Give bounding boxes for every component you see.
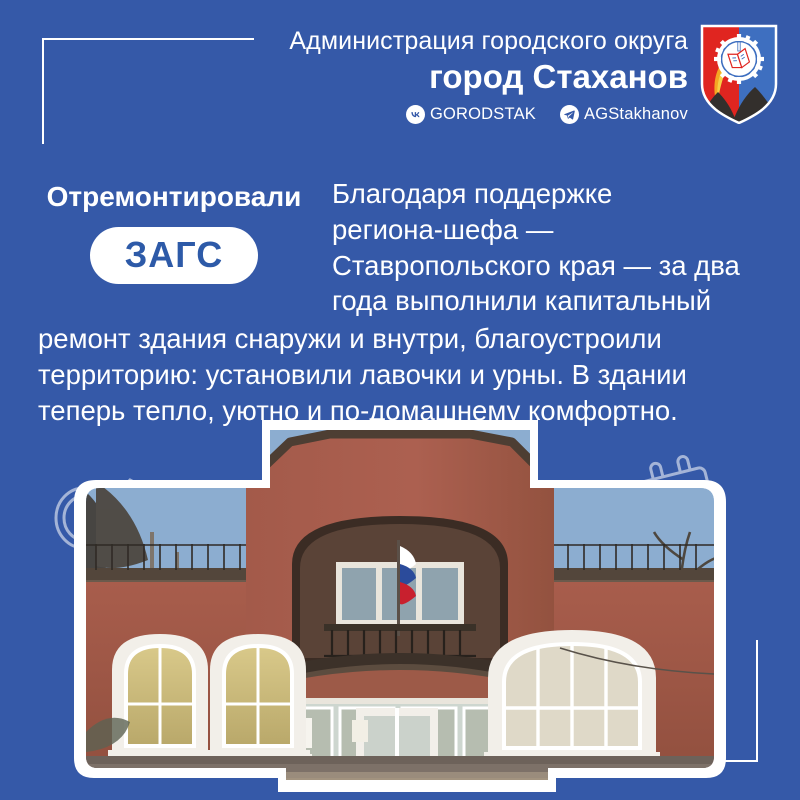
telegram-icon [560, 105, 579, 124]
article-copy: Отремонтировали ЗАГС Благодаря поддержке… [38, 176, 768, 428]
header-text-block: Администрация городского округа город Ст… [289, 22, 688, 124]
telegram-handle: AGStakhanov [584, 105, 688, 124]
social-link-vk[interactable]: GORODSTAK [406, 105, 536, 124]
paragraph-line: ремонт здания снаружи и внутри, благоуст… [38, 321, 768, 357]
city-title: город Стаханов [429, 58, 688, 97]
poster-canvas: Администрация городского округа город Ст… [0, 0, 800, 800]
paragraph-line: года выполнили капитальный [332, 283, 768, 319]
vk-handle: GORODSTAK [430, 105, 536, 124]
social-link-telegram[interactable]: AGStakhanov [560, 105, 688, 124]
poster-header: Администрация городского округа город Ст… [0, 22, 800, 142]
subject-badge-label: ЗАГС [125, 237, 223, 273]
paragraph-right-column: Благодаря поддержке региона-шефа — Ставр… [332, 176, 768, 319]
copy-top-row: Отремонтировали ЗАГС Благодаря поддержке… [38, 176, 768, 319]
paragraph-line: территорию: установили лавочки и урны. В… [38, 357, 768, 393]
stakhanov-coat-of-arms [700, 24, 778, 124]
kicker-label: Отремонтировали [38, 182, 310, 213]
organization-line: Администрация городского округа [289, 28, 688, 56]
subject-badge: ЗАГС [90, 227, 258, 284]
paragraph-line: Благодаря поддержке [332, 176, 768, 212]
paragraph-line: региона-шефа — [332, 212, 768, 248]
vk-icon [406, 105, 425, 124]
paragraph-line: Ставропольского края — за два [332, 248, 768, 284]
zags-building-photo [0, 412, 800, 800]
social-handles: GORODSTAK AGStakhanov [406, 105, 688, 124]
copy-left-column: Отремонтировали ЗАГС [38, 176, 310, 284]
